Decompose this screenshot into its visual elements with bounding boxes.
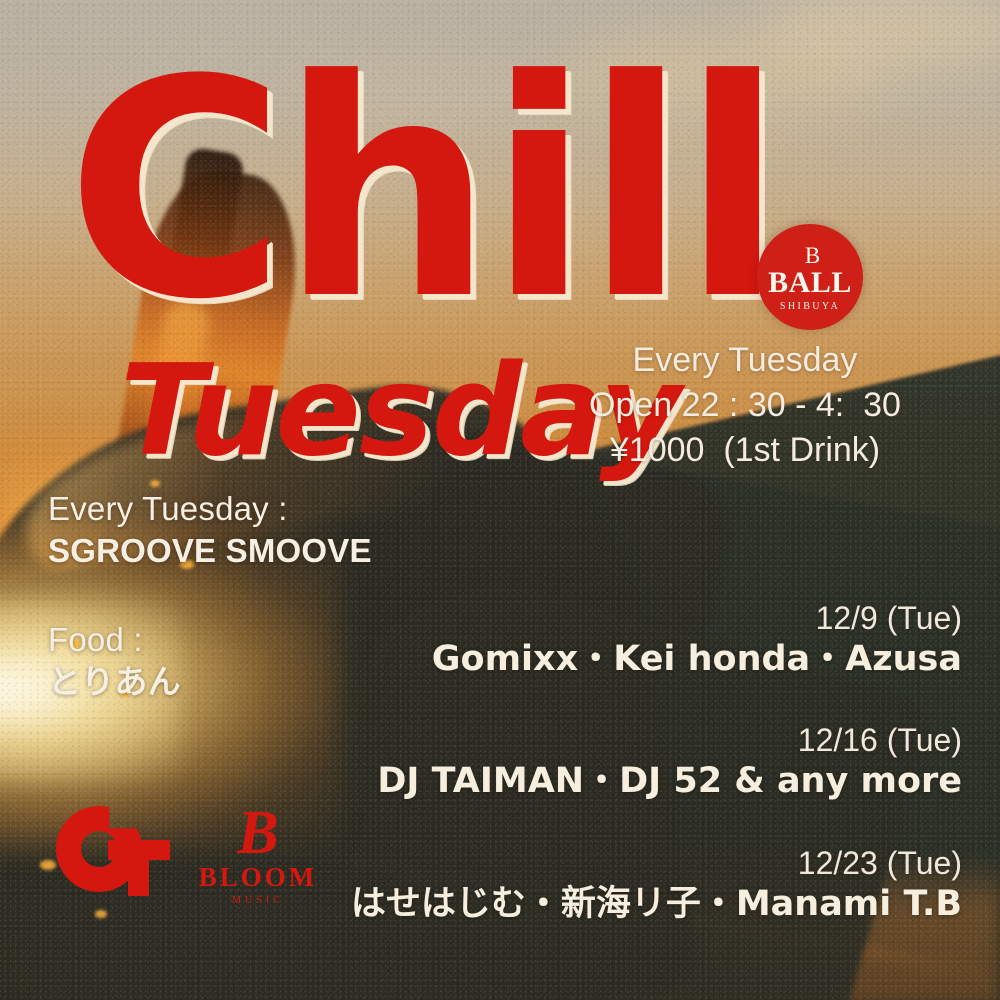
lineup-row: 12/9 (Tue) Gomixx・Kei honda・Azusa bbox=[262, 600, 962, 680]
sponsor-logos: B BLOOM MUSIC bbox=[56, 806, 320, 910]
schedule-block: Every Tuesday Open 22 : 30 - 4: 30 ¥1000… bbox=[530, 338, 960, 473]
venue-city: SHIBUYA bbox=[780, 302, 840, 312]
lineup-acts: Gomixx・Kei honda・Azusa bbox=[262, 638, 962, 681]
residents-value: SGROOVE SMOOVE bbox=[48, 530, 372, 573]
ball-monogram-icon: B bbox=[805, 244, 815, 267]
residents-label: Every Tuesday : bbox=[48, 488, 372, 530]
lineup-row: 12/16 (Tue) DJ TAIMAN・DJ 52 & any more bbox=[262, 722, 962, 802]
lineup-list: 12/9 (Tue) Gomixx・Kei honda・Azusa 12/16 … bbox=[262, 600, 962, 967]
ct-letter-t-stem bbox=[128, 840, 149, 896]
schedule-hours: Open 22 : 30 - 4: 30 bbox=[530, 383, 960, 428]
event-flyer: Chill Tuesday B BALL SHIBUYA Every Tuesd… bbox=[0, 0, 1000, 1000]
lineup-date: 12/23 (Tue) bbox=[262, 845, 962, 883]
schedule-recurrence: Every Tuesday bbox=[530, 338, 960, 383]
schedule-price: ¥1000 (1st Drink) bbox=[530, 428, 960, 473]
venue-badge: B BALL SHIBUYA bbox=[757, 224, 863, 330]
bloom-music-logo: B BLOOM MUSIC bbox=[196, 806, 320, 910]
lineup-date: 12/9 (Tue) bbox=[262, 600, 962, 638]
lineup-row: 12/23 (Tue) はせはじむ・新海リ子・Manami T.B bbox=[262, 845, 962, 925]
content-layer: Chill Tuesday B BALL SHIBUYA Every Tuesd… bbox=[0, 0, 1000, 1000]
bloom-b-monogram-icon: B bbox=[196, 806, 320, 862]
lineup-acts: DJ TAIMAN・DJ 52 & any more bbox=[262, 760, 962, 803]
bloom-wordmark: BLOOM bbox=[196, 864, 320, 891]
venue-name: BALL bbox=[768, 268, 852, 298]
title-line-chill: Chill bbox=[66, 62, 778, 320]
lineup-acts: はせはじむ・新海リ子・Manami T.B bbox=[262, 883, 962, 926]
lineup-date: 12/16 (Tue) bbox=[262, 722, 962, 760]
residents-group: Every Tuesday : SGROOVE SMOOVE bbox=[48, 488, 372, 573]
ct-logo-icon bbox=[56, 806, 166, 892]
bloom-subtitle: MUSIC bbox=[196, 896, 320, 906]
